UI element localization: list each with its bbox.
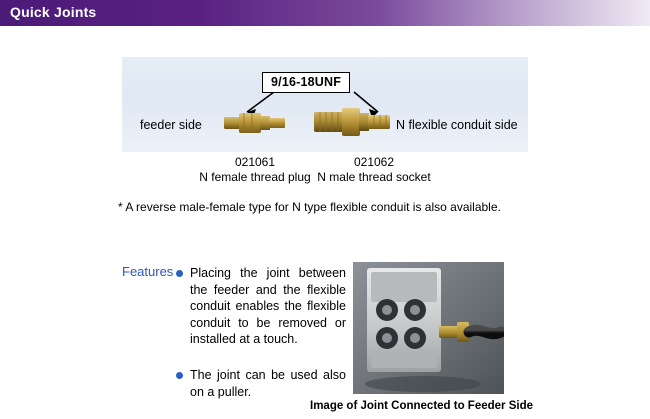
- figure-footnote: * A reverse male-female type for N type …: [118, 200, 501, 214]
- male-thread-socket-image: [312, 104, 392, 140]
- feature-item-2: The joint can be used also on a puller.: [190, 367, 346, 400]
- flexible-conduit-side-label: N flexible conduit side: [396, 118, 518, 132]
- part-number-right: 021062: [288, 155, 460, 170]
- page-header-bar: Quick Joints: [0, 0, 650, 26]
- page-title: Quick Joints: [10, 4, 96, 20]
- features-heading: Features: [122, 264, 173, 279]
- bullet-icon: [176, 270, 183, 277]
- bullet-icon: [176, 372, 183, 379]
- part-name-right: N male thread socket: [288, 170, 460, 185]
- feeder-side-label: feeder side: [140, 118, 202, 132]
- part-caption-right: 021062 N male thread socket: [288, 155, 460, 185]
- photo-caption: Image of Joint Connected to Feeder Side: [310, 400, 533, 412]
- thread-spec-callout: 9/16-18UNF: [262, 72, 350, 93]
- joint-photo: [353, 262, 504, 394]
- feature-item-1: Placing the joint between the feeder and…: [190, 265, 346, 348]
- female-thread-plug-image: [222, 108, 288, 138]
